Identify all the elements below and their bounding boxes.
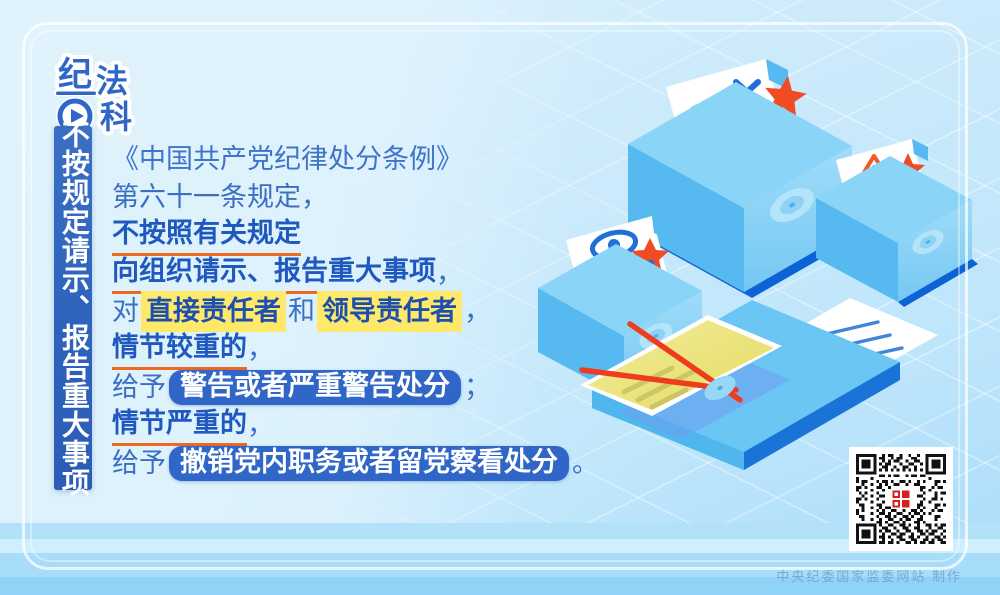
folder-right: [816, 139, 978, 307]
vertical-title-text: 不按规定请示、报告重大事项: [58, 120, 88, 497]
text-line-2: 第六十一条规定，: [112, 178, 582, 216]
penalty-badge-warning: 警告或者严重警告处分: [169, 370, 461, 405]
clause-part-2: 向组织请示、报告重大事项: [112, 252, 436, 294]
isometric-folders-illustration: [520, 40, 990, 510]
comma-4: ，: [247, 406, 274, 444]
severity-moderate: 情节较重的: [112, 328, 247, 370]
text-line-9: 给予撤销党内职务或者留党察看处分。: [112, 444, 582, 482]
responsible-prefix: 对: [112, 292, 139, 330]
severity-serious: 情节严重的: [112, 404, 247, 446]
regulation-title: 《中国共产党纪律处分条例》: [112, 140, 463, 178]
vertical-title-banner: 不按规定请示、报告重大事项: [54, 126, 92, 490]
text-line-7: 给予警告或者严重警告处分；: [112, 368, 582, 406]
penalty-badge-removal: 撤销党内职务或者留党察看处分: [169, 446, 569, 481]
poster-root: 纪 纪 法 法 科 科 不按规定请示、报告重大事项 《中国共产党纪律处分条例》 …: [0, 0, 1000, 595]
comma-1: ，: [436, 254, 463, 292]
penalty-prefix-2: 给予: [112, 444, 166, 482]
svg-text:法: 法: [96, 63, 128, 99]
comma-3: ，: [247, 330, 274, 368]
period-1: 。: [572, 444, 599, 482]
text-line-8: 情节严重的，: [112, 406, 582, 444]
highlight-leadership-responsible: 领导责任者: [317, 291, 462, 332]
text-line-4: 向组织请示、报告重大事项，: [112, 254, 582, 292]
article-number: 第六十一条规定，: [112, 178, 328, 216]
svg-text:科: 科: [100, 99, 132, 135]
svg-text:纪: 纪: [58, 56, 92, 94]
highlight-direct-responsible: 直接责任者: [141, 291, 286, 332]
regulation-text-block: 《中国共产党纪律处分条例》 第六十一条规定， 不按照有关规定 向组织请示、报告重…: [112, 140, 582, 482]
qr-code[interactable]: [849, 447, 953, 551]
text-line-6: 情节较重的，: [112, 330, 582, 368]
conjunction-and: 和: [288, 292, 315, 330]
footer-credit: 中央纪委国家监委网站 制作: [776, 566, 962, 585]
text-line-1: 《中国共产党纪律处分条例》: [112, 140, 582, 178]
semicolon-1: ；: [464, 368, 491, 406]
clause-part-1: 不按照有关规定: [112, 214, 301, 256]
text-line-5: 对 直接责任者 和 领导责任者，: [112, 292, 582, 330]
text-line-3: 不按照有关规定: [112, 216, 582, 254]
penalty-prefix-1: 给予: [112, 368, 166, 406]
comma-2: ，: [464, 292, 491, 330]
